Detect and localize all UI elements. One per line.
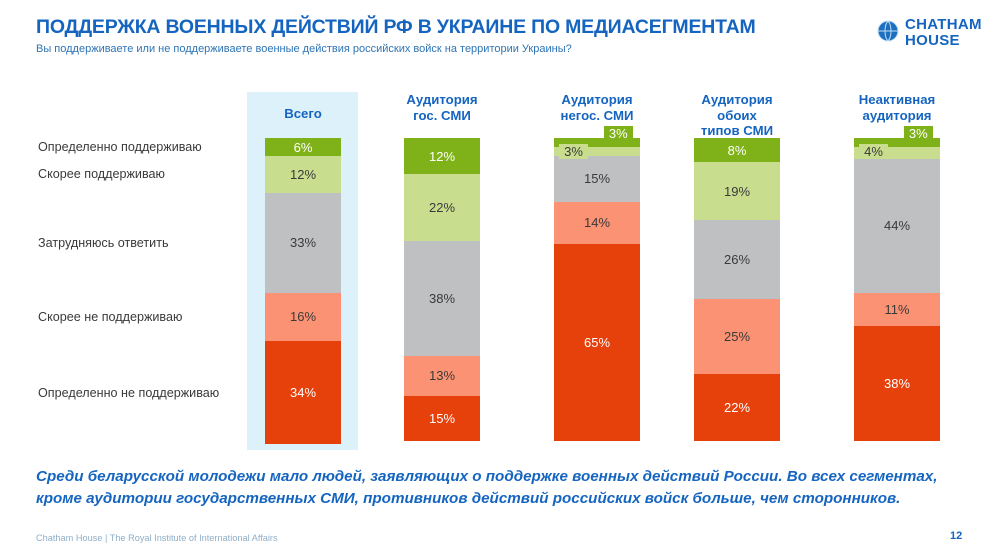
bar-segment[interactable]: 13% [404, 356, 480, 395]
bar-segment[interactable]: 12% [265, 156, 341, 192]
row-label: Скорее поддерживаю [38, 168, 165, 181]
stacked-bar: 6%12%33%16%34% [265, 138, 341, 444]
slide: ПОДДЕРЖКА ВОЕННЫХ ДЕЙСТВИЙ РФ В УКРАИНЕ … [0, 0, 1000, 552]
column-header-line: негос. СМИ [561, 108, 634, 123]
stacked-bar-chart: Определенно поддерживаюСкорее поддержива… [0, 0, 1000, 460]
segment-value-label: 14% [584, 216, 610, 229]
segment-value-label: 33% [290, 236, 316, 249]
segment-value-label: 16% [290, 310, 316, 323]
bar-segment[interactable]: 14% [554, 202, 640, 244]
segment-value-label: 19% [724, 185, 750, 198]
bar-segment[interactable]: 34% [265, 341, 341, 444]
segment-value-label: 25% [724, 330, 750, 343]
segment-value-label: 6% [294, 141, 313, 154]
segment-value-label: 12% [429, 150, 455, 163]
bar-segment[interactable]: 12% [404, 138, 480, 174]
bar-segment[interactable]: 22% [694, 374, 780, 441]
page-number: 12 [950, 530, 962, 542]
column-header-line: Аудитория [406, 92, 477, 107]
column-header-line: гос. СМИ [413, 108, 471, 123]
segment-value-label: 22% [724, 401, 750, 414]
segment-value-label: 3% [904, 126, 933, 141]
bar-segment[interactable]: 22% [404, 174, 480, 241]
stacked-bar: 12%22%38%13%15% [404, 138, 480, 441]
bar-segment[interactable]: 38% [854, 326, 940, 441]
segment-value-label: 4% [859, 144, 888, 159]
segment-value-label: 38% [429, 292, 455, 305]
column-header: Аудитория обоихтипов СМИ [694, 92, 780, 139]
bar-segment[interactable]: 33% [265, 193, 341, 293]
column-header-line: Всего [284, 106, 322, 121]
stacked-bar: 3%3%15%14%65% [554, 138, 640, 441]
bar-segment[interactable]: 4% [854, 147, 940, 159]
row-label: Скорее не поддерживаю [38, 311, 182, 324]
bar-segment[interactable]: 15% [554, 156, 640, 201]
segment-value-label: 13% [429, 369, 455, 382]
bar-segment[interactable]: 3% [554, 147, 640, 156]
column-header: Аудиториягос. СМИ [404, 92, 480, 123]
segment-value-label: 8% [728, 144, 747, 157]
bar-segment[interactable]: 15% [404, 396, 480, 441]
stacked-bar: 3%4%44%11%38% [854, 138, 940, 441]
row-label: Определенно поддерживаю [38, 141, 202, 154]
column-header: Неактивнаяаудитория [854, 92, 940, 123]
row-label: Определенно не поддерживаю [38, 387, 219, 400]
bar-segment[interactable]: 25% [694, 299, 780, 375]
bar-segment[interactable]: 11% [854, 293, 940, 326]
column-header-line: Аудитория обоих [701, 92, 772, 123]
column-header: Аудиториянегос. СМИ [554, 92, 640, 123]
segment-value-label: 34% [290, 386, 316, 399]
segment-value-label: 38% [884, 377, 910, 390]
segment-value-label: 12% [290, 168, 316, 181]
segment-value-label: 15% [584, 172, 610, 185]
segment-value-label: 44% [884, 219, 910, 232]
segment-value-label: 22% [429, 201, 455, 214]
column-header-line: типов СМИ [701, 123, 773, 138]
bar-segment[interactable]: 16% [265, 293, 341, 341]
bar-segment[interactable]: 6% [265, 138, 341, 156]
insight-caption: Среди беларусской молодежи мало людей, з… [36, 466, 986, 509]
segment-value-label: 3% [604, 126, 633, 141]
credit-line: Chatham House | The Royal Institute of I… [36, 533, 278, 543]
column-header: Всего [265, 106, 341, 122]
segment-value-label: 3% [559, 144, 588, 159]
bar-segment[interactable]: 65% [554, 244, 640, 441]
column-header-line: Неактивная [859, 92, 935, 107]
column-header-line: Аудитория [561, 92, 632, 107]
segment-value-label: 65% [584, 336, 610, 349]
bar-segment[interactable]: 26% [694, 220, 780, 299]
column-header-line: аудитория [862, 108, 931, 123]
segment-value-label: 15% [429, 412, 455, 425]
segment-value-label: 11% [884, 303, 909, 316]
row-label: Затрудняюсь ответить [38, 237, 169, 250]
bar-segment[interactable]: 8% [694, 138, 780, 162]
bar-segment[interactable]: 38% [404, 241, 480, 356]
bar-segment[interactable]: 44% [854, 159, 940, 292]
segment-value-label: 26% [724, 253, 750, 266]
bar-segment[interactable]: 19% [694, 162, 780, 220]
stacked-bar: 8%19%26%25%22% [694, 138, 780, 441]
